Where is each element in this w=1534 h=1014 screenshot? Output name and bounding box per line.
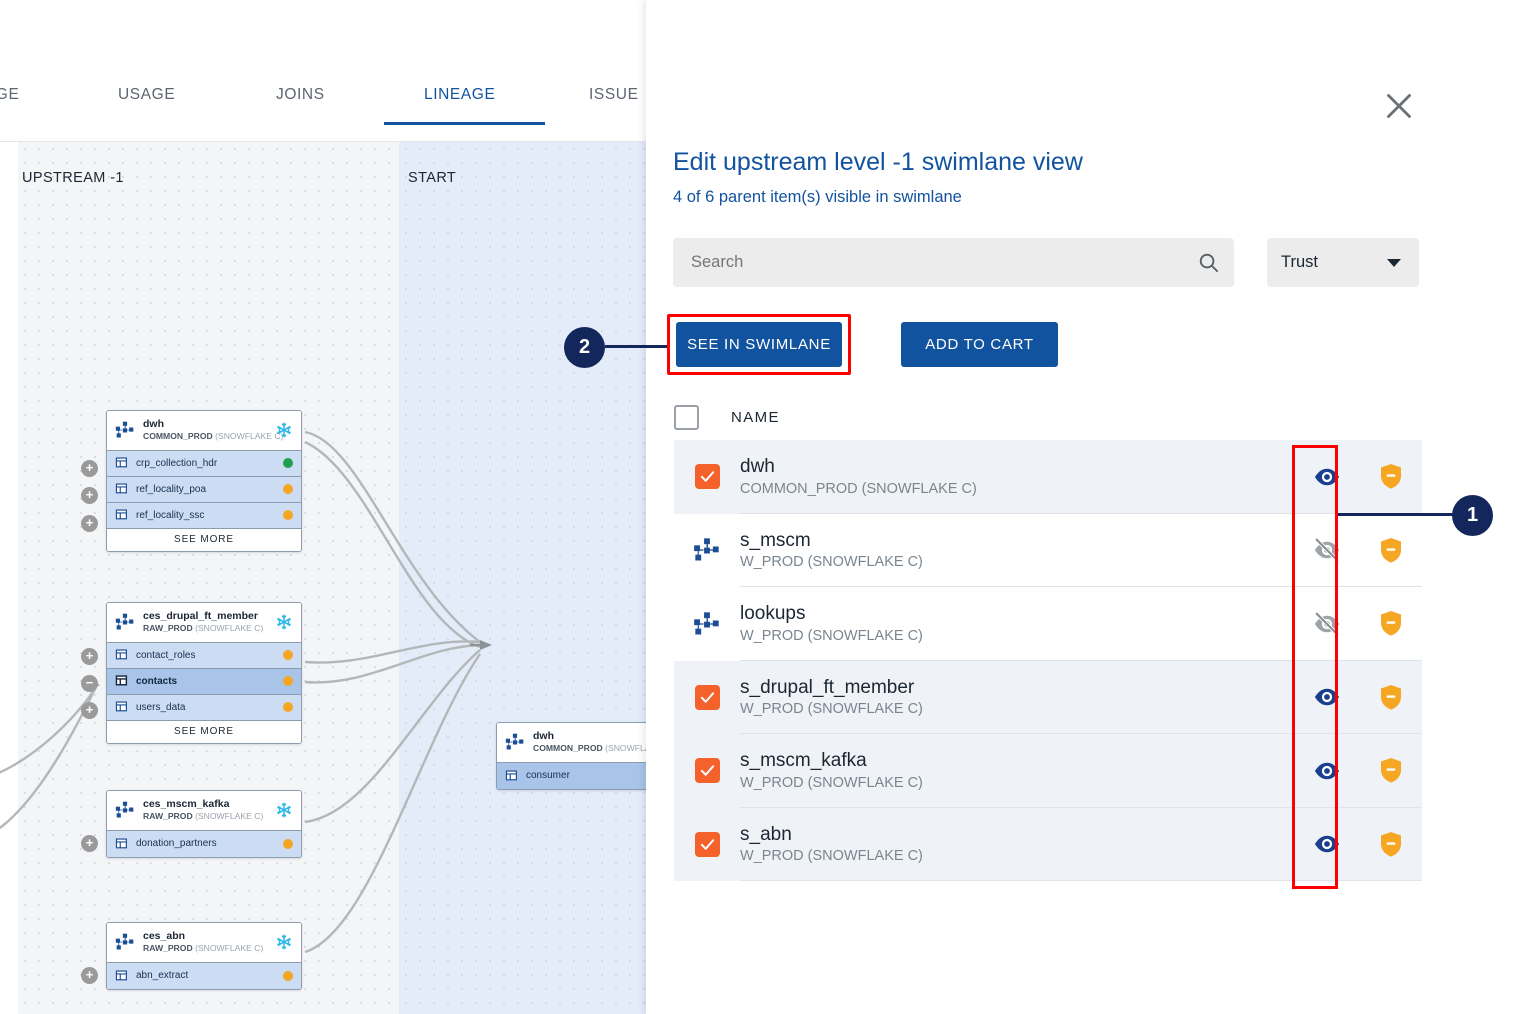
node-column-row[interactable]: donation_partners [107, 831, 301, 857]
graph-node-ces-mscm-kafka[interactable]: ces_mscm_kafka RAW_PROD (SNOWFLAKE C) do… [106, 790, 302, 858]
visibility-toggle-hidden[interactable] [1294, 610, 1360, 638]
expand-column-button[interactable]: + [81, 702, 98, 719]
status-dot [283, 971, 293, 981]
table-icon [115, 837, 129, 851]
node-header: ces_drupal_ft_member RAW_PROD (SNOWFLAKE… [107, 603, 301, 643]
tab-dge[interactable]: DGE [0, 86, 19, 104]
see-more-button[interactable]: SEE MORE [107, 721, 301, 743]
node-title: dwh [533, 730, 646, 743]
column-label: consumer [526, 770, 646, 781]
list-header: NAME [674, 396, 1422, 438]
status-dot [283, 839, 293, 849]
schema-node-icon [693, 610, 721, 638]
node-subtitle: RAW_PROD (SNOWFLAKE C) [143, 811, 267, 822]
search-icon [1197, 251, 1220, 274]
schema-node-icon [115, 932, 135, 952]
column-label: abn_extract [136, 970, 276, 981]
table-icon [115, 648, 129, 662]
snowflake-icon [275, 421, 293, 439]
trust-shield-warning-icon [1379, 463, 1403, 490]
node-header: ces_mscm_kafka RAW_PROD (SNOWFLAKE C) [107, 791, 301, 831]
callout-1-connector [1338, 513, 1455, 516]
node-column-row[interactable]: ref_locality_poa [107, 477, 301, 503]
eye-visible-icon [1313, 830, 1341, 858]
row-lead [674, 536, 740, 564]
row-lead [674, 758, 740, 783]
row-lead [674, 685, 740, 710]
select-all-checkbox[interactable] [674, 405, 699, 430]
schema-node-icon [115, 800, 135, 820]
swimlane-upstream-1 [18, 142, 399, 1014]
node-title: ces_abn [143, 930, 267, 943]
trust-shield-warning-icon [1379, 684, 1403, 711]
row-subtitle: W_PROD (SNOWFLAKE C) [740, 553, 1294, 573]
expand-column-button[interactable]: + [81, 487, 98, 504]
node-column-row[interactable]: users_data [107, 695, 301, 721]
table-icon [115, 700, 129, 714]
trust-shield [1360, 757, 1422, 784]
column-label: contacts [136, 676, 276, 687]
list-item[interactable]: dwh COMMON_PROD (SNOWFLAKE C) [674, 440, 1422, 514]
trust-filter-select[interactable]: Trust [1267, 238, 1419, 287]
lineage-canvas-area: DGE USAGE JOINS LINEAGE ISSUE UPSTREAM -… [0, 0, 646, 1014]
expand-column-button[interactable]: + [81, 648, 98, 665]
trust-shield [1360, 537, 1422, 564]
row-name: lookups [740, 601, 1294, 627]
chevron-down-icon [1387, 259, 1401, 267]
visibility-toggle-visible[interactable] [1294, 830, 1360, 858]
trust-shield [1360, 610, 1422, 637]
row-checkbox-checked[interactable] [695, 464, 720, 489]
expand-column-button[interactable]: + [81, 967, 98, 984]
tab-bar: DGE USAGE JOINS LINEAGE ISSUE [0, 0, 646, 142]
node-subtitle: COMMON_PROD (SNOWFLAKE C) [143, 431, 267, 442]
expand-column-button[interactable]: + [81, 460, 98, 477]
visibility-toggle-visible[interactable] [1294, 757, 1360, 785]
row-subtitle: W_PROD (SNOWFLAKE C) [740, 847, 1294, 867]
add-to-cart-button[interactable]: ADD TO CART [901, 322, 1058, 367]
row-subtitle: COMMON_PROD (SNOWFLAKE C) [740, 480, 1294, 500]
callout-badge-1: 1 [1452, 495, 1493, 536]
see-in-swimlane-button[interactable]: SEE IN SWIMLANE [676, 322, 842, 367]
snowflake-icon [275, 613, 293, 631]
list-item[interactable]: lookups W_PROD (SNOWFLAKE C) [674, 587, 1422, 661]
status-dot [283, 510, 293, 520]
trust-shield [1360, 831, 1422, 858]
node-column-row-selected[interactable]: contacts [107, 669, 301, 695]
status-dot [283, 702, 293, 712]
row-name: s_mscm [740, 528, 1294, 554]
column-label: ref_locality_poa [136, 484, 276, 495]
table-icon [115, 674, 129, 688]
edit-swimlane-panel: Edit upstream level -1 swimlane view 4 o… [646, 0, 1534, 1014]
list-item[interactable]: s_mscm_kafka W_PROD (SNOWFLAKE C) [674, 734, 1422, 808]
eye-visible-icon [1313, 683, 1341, 711]
row-lead [674, 832, 740, 857]
node-subtitle: RAW_PROD (SNOWFLAKE C) [143, 943, 267, 954]
expand-column-button[interactable]: + [81, 835, 98, 852]
active-tab-underline [384, 122, 545, 125]
column-header-name: NAME [731, 409, 780, 426]
row-lead [674, 464, 740, 489]
node-header: dwh COMMON_PROD (SNOWFLAKE C) [107, 411, 301, 451]
row-checkbox-checked[interactable] [695, 685, 720, 710]
callout-2-connector [605, 345, 667, 348]
status-dot [283, 484, 293, 494]
table-icon [115, 456, 129, 470]
swimlane-label-upstream: UPSTREAM -1 [22, 170, 124, 186]
list-item[interactable]: s_mscm W_PROD (SNOWFLAKE C) [674, 514, 1422, 588]
column-label: users_data [136, 702, 276, 713]
search-input[interactable] [689, 238, 1189, 287]
row-checkbox-checked[interactable] [695, 758, 720, 783]
table-icon [505, 769, 519, 783]
lineage-graph-canvas[interactable]: UPSTREAM -1 START [0, 142, 646, 1014]
column-label: donation_partners [136, 838, 276, 849]
eye-hidden-icon [1313, 610, 1341, 638]
node-column-row[interactable]: crp_collection_hdr [107, 451, 301, 477]
trust-shield-warning-icon [1379, 610, 1403, 637]
row-checkbox-checked[interactable] [695, 832, 720, 857]
node-header: ces_abn RAW_PROD (SNOWFLAKE C) [107, 923, 301, 963]
node-column-row-selected[interactable]: consumer [497, 763, 646, 789]
schema-node-icon [115, 420, 135, 440]
table-icon [115, 969, 129, 983]
close-icon[interactable] [1381, 88, 1417, 124]
search-box[interactable] [673, 238, 1234, 287]
callout-badge-2: 2 [564, 327, 605, 368]
column-label: ref_locality_ssc [136, 510, 276, 521]
graph-node-ces-abn[interactable]: ces_abn RAW_PROD (SNOWFLAKE C) abn_extra… [106, 922, 302, 990]
row-name: s_abn [740, 822, 1294, 848]
node-title: dwh [143, 418, 267, 431]
swimlane-label-start: START [408, 170, 456, 186]
list-item[interactable]: s_abn W_PROD (SNOWFLAKE C) [674, 808, 1422, 882]
trust-shield-warning-icon [1379, 537, 1403, 564]
trust-shield [1360, 463, 1422, 490]
snowflake-icon [275, 801, 293, 819]
graph-node-dwh-start[interactable]: dwh COMMON_PROD (SNOWFLAKE C consumer [496, 722, 646, 790]
node-title: ces_mscm_kafka [143, 798, 267, 811]
node-header: dwh COMMON_PROD (SNOWFLAKE C [497, 723, 646, 763]
row-name: dwh [740, 454, 1294, 480]
status-dot [283, 650, 293, 660]
graph-node-dwh[interactable]: dwh COMMON_PROD (SNOWFLAKE C) crp_collec… [106, 410, 302, 552]
node-column-row[interactable]: abn_extract [107, 963, 301, 989]
tab-joins[interactable]: JOINS [276, 86, 325, 104]
node-subtitle: RAW_PROD (SNOWFLAKE C) [143, 623, 267, 634]
visibility-toggle-hidden[interactable] [1294, 536, 1360, 564]
trust-filter-value: Trust [1281, 238, 1318, 287]
row-subtitle: W_PROD (SNOWFLAKE C) [740, 774, 1294, 794]
node-title: ces_drupal_ft_member [143, 610, 267, 623]
tab-issue[interactable]: ISSUE [589, 86, 639, 104]
row-lead [674, 610, 740, 638]
visibility-toggle-visible[interactable] [1294, 683, 1360, 711]
swimlane-start [399, 142, 646, 1014]
see-more-button[interactable]: SEE MORE [107, 529, 301, 551]
list-item[interactable]: s_drupal_ft_member W_PROD (SNOWFLAKE C) [674, 661, 1422, 735]
row-divider [740, 880, 1422, 881]
collapse-column-button[interactable]: − [81, 675, 98, 692]
trust-shield [1360, 684, 1422, 711]
row-name: s_drupal_ft_member [740, 675, 1294, 701]
column-label: crp_collection_hdr [136, 458, 276, 469]
status-dot [283, 458, 293, 468]
eye-visible-icon [1313, 463, 1341, 491]
schema-node-icon [115, 612, 135, 632]
node-subtitle: COMMON_PROD (SNOWFLAKE C [533, 743, 646, 754]
eye-visible-icon [1313, 757, 1341, 785]
node-column-row[interactable]: ref_locality_ssc [107, 503, 301, 529]
snowflake-icon [275, 933, 293, 951]
status-dot [283, 676, 293, 686]
column-label: contact_roles [136, 650, 276, 661]
expand-column-button[interactable]: + [81, 515, 98, 532]
row-name: s_mscm_kafka [740, 748, 1294, 774]
page-title: Edit upstream level -1 swimlane view [673, 148, 1083, 177]
panel-subtitle: 4 of 6 parent item(s) visible in swimlan… [673, 188, 962, 207]
table-icon [115, 482, 129, 496]
eye-hidden-icon [1313, 536, 1341, 564]
visibility-toggle-visible[interactable] [1294, 463, 1360, 491]
row-subtitle: W_PROD (SNOWFLAKE C) [740, 627, 1294, 647]
schema-node-icon [693, 536, 721, 564]
schema-node-icon [505, 732, 525, 752]
tab-usage[interactable]: USAGE [118, 86, 175, 104]
trust-shield-warning-icon [1379, 757, 1403, 784]
parent-items-list: dwh COMMON_PROD (SNOWFLAKE C) [674, 440, 1422, 881]
tab-lineage[interactable]: LINEAGE [424, 86, 495, 104]
trust-shield-warning-icon [1379, 831, 1403, 858]
table-icon [115, 508, 129, 522]
graph-node-ces-drupal-ft-member[interactable]: ces_drupal_ft_member RAW_PROD (SNOWFLAKE… [106, 602, 302, 744]
node-column-row[interactable]: contact_roles [107, 643, 301, 669]
row-subtitle: W_PROD (SNOWFLAKE C) [740, 700, 1294, 720]
